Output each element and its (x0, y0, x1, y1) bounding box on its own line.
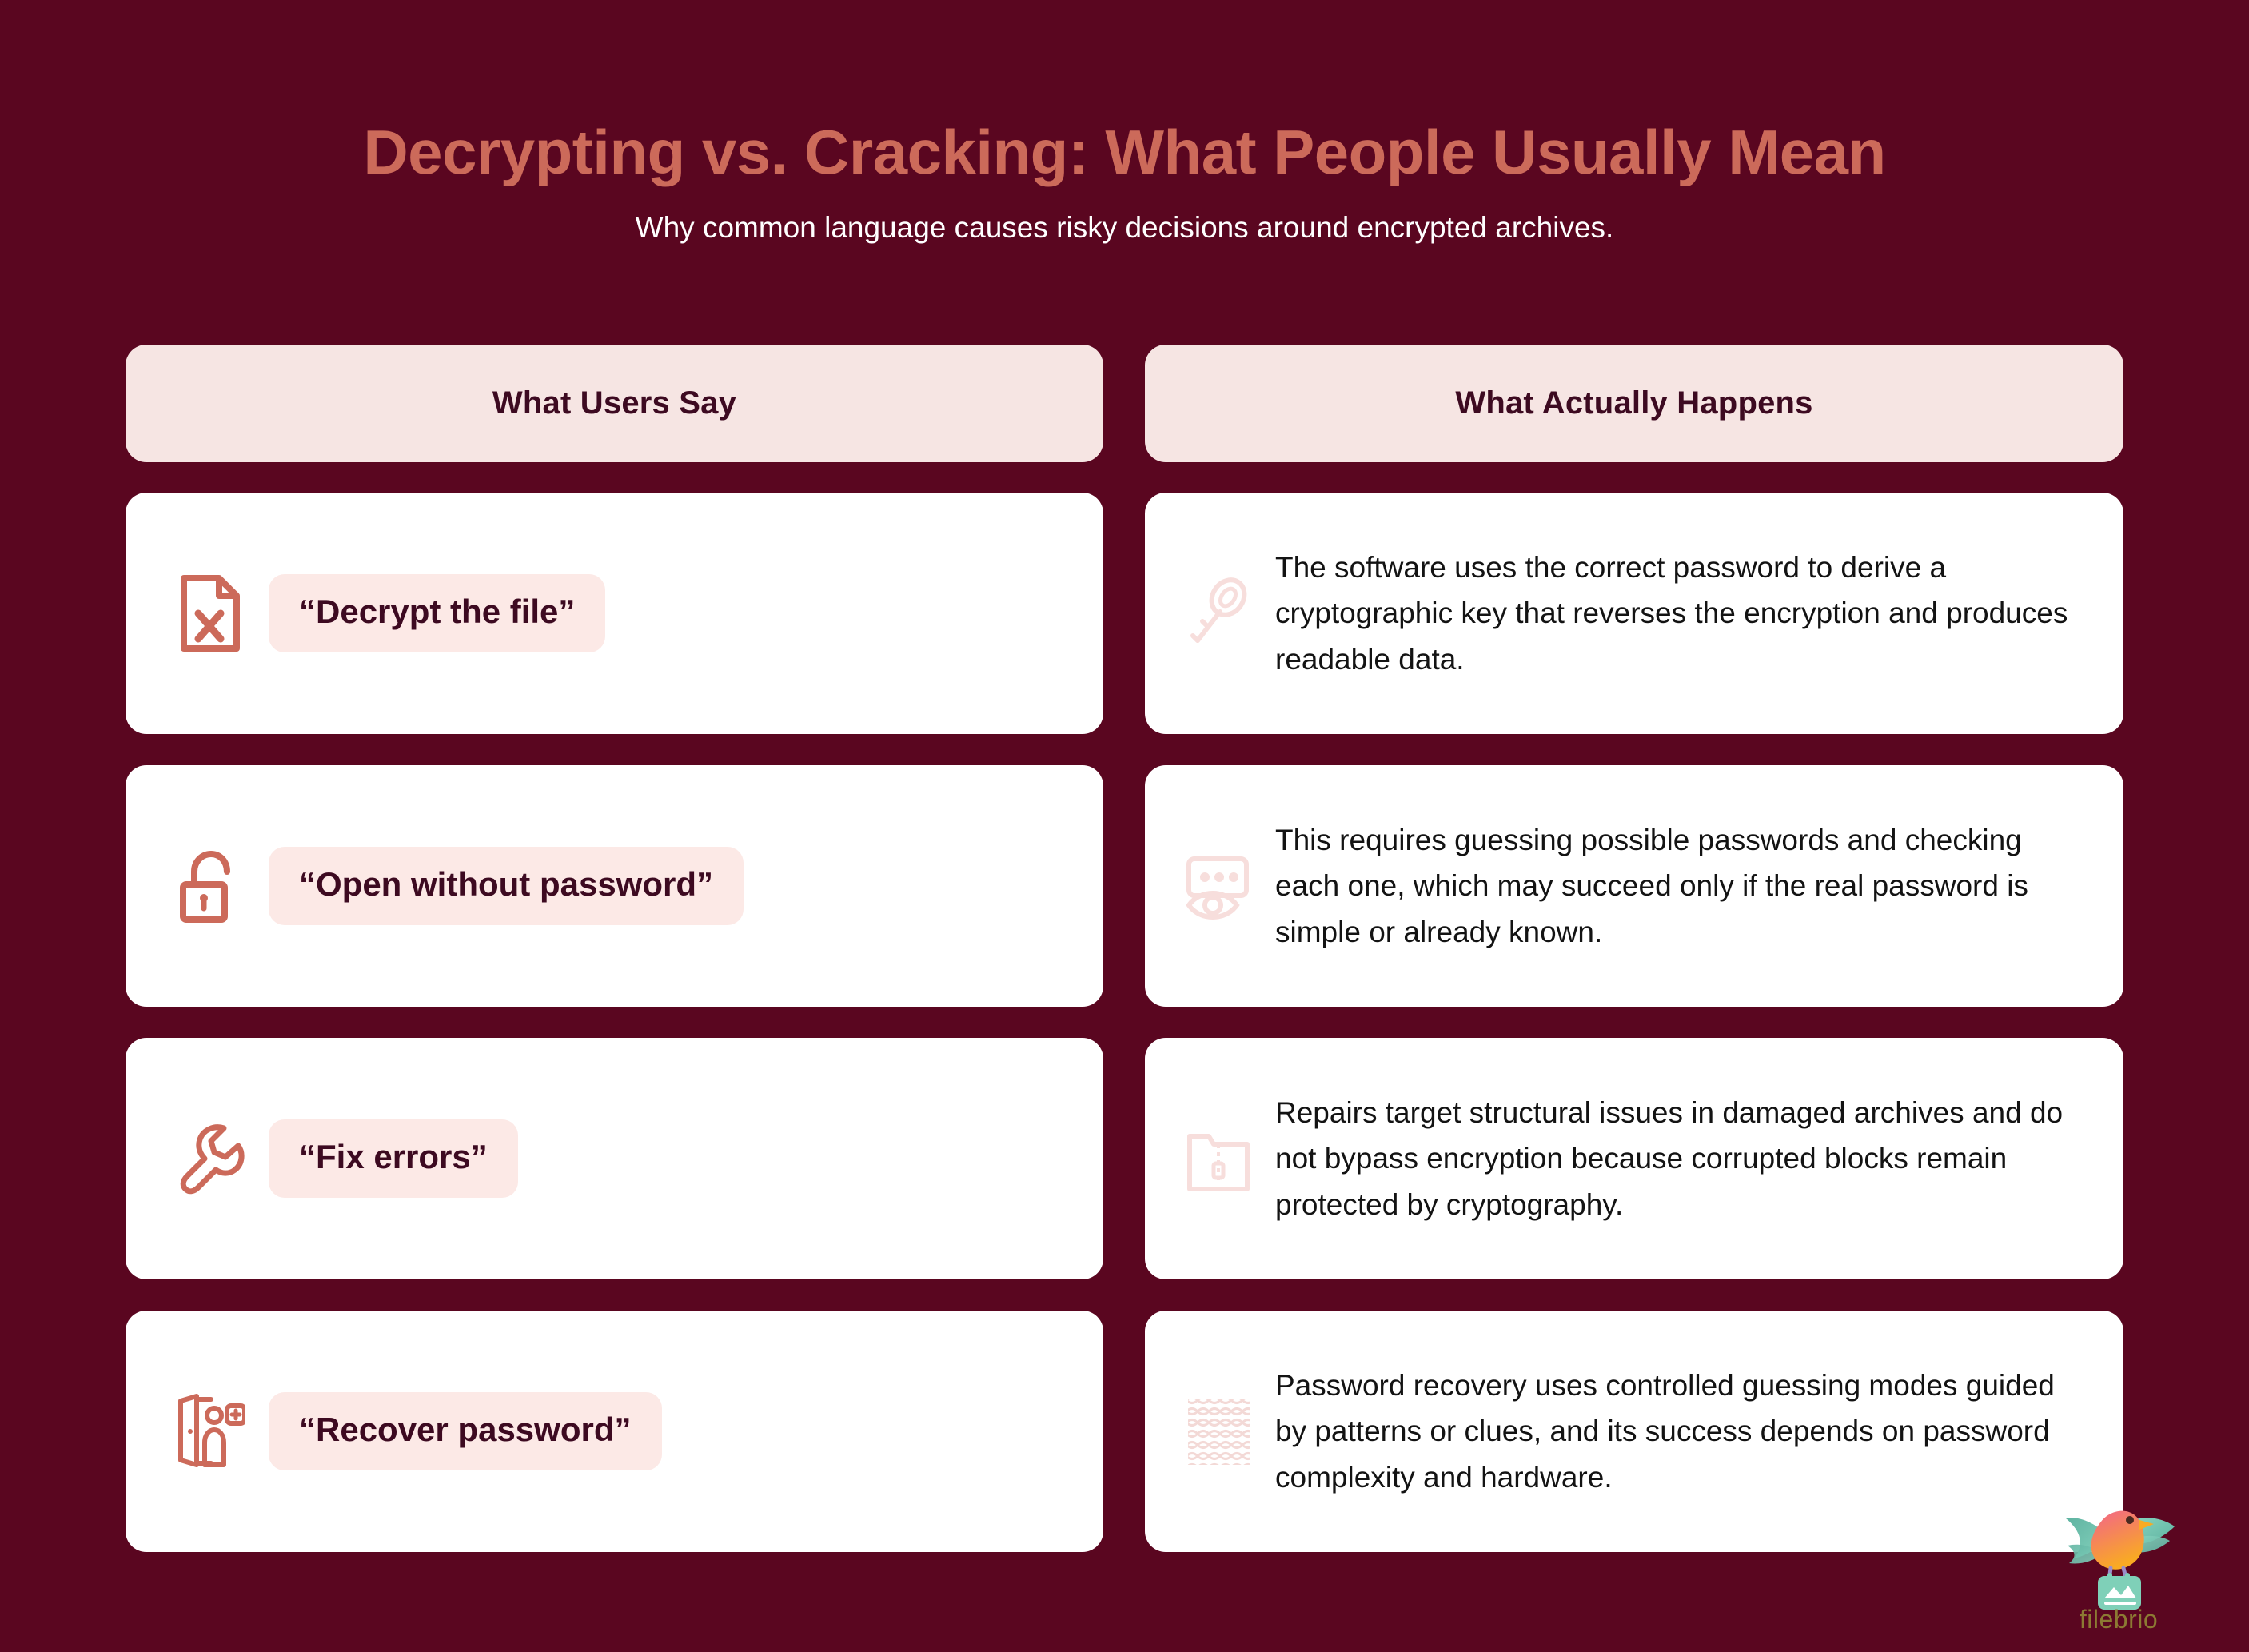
user-phrase-card: “Fix errors” (126, 1038, 1103, 1279)
infographic-poster: Decrypting vs. Cracking: What People Usu… (0, 0, 2249, 1652)
user-phrase-label: “Decrypt the file” (299, 595, 575, 628)
user-phrase-label: “Fix errors” (299, 1140, 488, 1174)
user-phrase-card: “Open without password” (126, 765, 1103, 1007)
table-row: “Recover password” Password recovery use… (126, 1311, 2123, 1552)
user-phrase-card: “Decrypt the file” (126, 493, 1103, 734)
key-icon (1181, 575, 1258, 652)
table-row: “Open without password” This requires gu… (126, 765, 2123, 1007)
user-phrase-label: “Recover password” (299, 1413, 632, 1446)
page-subtitle: Why common language causes risky decisio… (0, 209, 2249, 246)
table-header-row: What Users Say What Actually Happens (126, 345, 2123, 462)
open-padlock-icon (176, 848, 245, 924)
column-header-what-actually-happens: What Actually Happens (1145, 345, 2123, 462)
header-block: Decrypting vs. Cracking: What People Usu… (0, 0, 2249, 246)
wrench-icon (176, 1120, 245, 1197)
column-header-left-label: What Users Say (492, 385, 736, 421)
explanation-text: The software uses the correct password t… (1275, 545, 2076, 682)
explanation-card: Password recovery uses controlled guessi… (1145, 1311, 2123, 1552)
header-spacer (126, 462, 2123, 493)
zipped-folder-icon (1181, 1120, 1258, 1197)
explanation-text: This requires guessing possible password… (1275, 817, 2076, 955)
brand-name: filebrio (2043, 1605, 2195, 1634)
file-x-icon (176, 575, 245, 652)
password-eye-icon (1181, 848, 1258, 924)
bird-carrying-file-icon (2053, 1498, 2185, 1610)
user-phrase-pill: “Fix errors” (269, 1119, 518, 1198)
page-title: Decrypting vs. Cracking: What People Usu… (0, 118, 2249, 186)
user-phrase-pill: “Open without password” (269, 847, 744, 925)
column-header-right-label: What Actually Happens (1455, 385, 1812, 421)
brand-logo: filebrio (2043, 1498, 2195, 1634)
user-phrase-card: “Recover password” (126, 1311, 1103, 1552)
explanation-text: Repairs target structural issues in dama… (1275, 1090, 2076, 1227)
explanation-card: Repairs target structural issues in dama… (1145, 1038, 2123, 1279)
table-row: “Decrypt the file” The software uses the… (126, 493, 2123, 734)
explanation-text: Password recovery uses controlled guessi… (1275, 1363, 2076, 1500)
user-phrase-pill: “Recover password” (269, 1392, 662, 1470)
user-phrase-label: “Open without password” (299, 868, 713, 901)
column-header-what-users-say: What Users Say (126, 345, 1103, 462)
explanation-card: The software uses the correct password t… (1145, 493, 2123, 734)
explanation-card: This requires guessing possible password… (1145, 765, 2123, 1007)
table-row: “Fix errors” Repairs target structural i… (126, 1038, 2123, 1279)
person-door-plus-icon (176, 1393, 245, 1470)
pattern-grid-icon (1181, 1393, 1258, 1470)
user-phrase-pill: “Decrypt the file” (269, 574, 605, 652)
comparison-table: What Users Say What Actually Happens “De… (126, 345, 2123, 1583)
